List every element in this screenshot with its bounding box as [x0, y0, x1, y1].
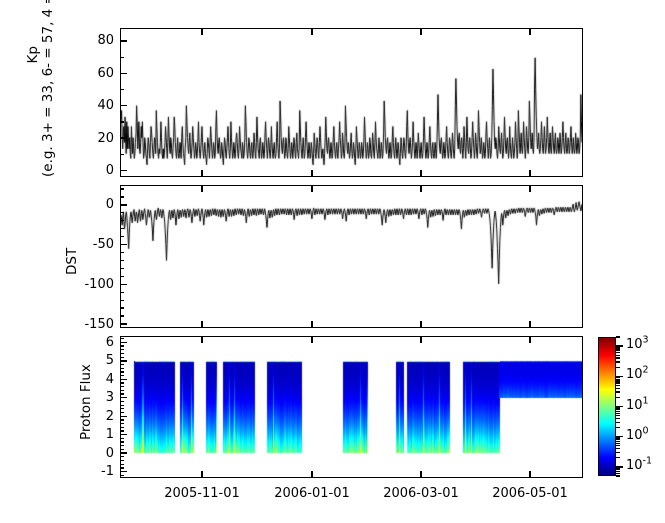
colorbar-tick-minor: [616, 427, 620, 428]
y-tick-major: [120, 137, 127, 138]
x-tick-major-top: [201, 28, 202, 35]
colorbar-tick-minor: [616, 468, 620, 469]
colorbar-tick-minor: [616, 355, 620, 356]
kp-line-canvas: [121, 29, 582, 176]
y-tick-minor-dense: [120, 371, 124, 372]
y-tick-label: 3: [0, 391, 114, 404]
y-tick-major: [120, 416, 127, 417]
x-tick-major-top: [420, 336, 421, 343]
y-tick-minor-dense: [120, 353, 124, 354]
y-tick-minor: [120, 236, 124, 237]
colorbar-tick-minor: [616, 445, 620, 446]
x-tick-major-top: [529, 336, 530, 343]
x-tick-major-upper: [201, 170, 202, 177]
x-tick-major-top: [201, 185, 202, 192]
y-tick-minor: [120, 315, 124, 316]
colorbar-tick-minor: [616, 382, 620, 383]
y-tick-label: 0: [0, 164, 114, 177]
y-tick-minor-dense: [120, 390, 124, 391]
colorbar-tick-minor: [616, 443, 620, 444]
y-tick-minor-dense: [120, 441, 124, 442]
y-tick-minor-dense: [120, 449, 124, 450]
y-tick-label: 0: [0, 447, 114, 460]
colorbar-tick-label: 100: [626, 429, 649, 442]
y-tick-major: [120, 452, 127, 453]
y-tick-minor-dense: [120, 475, 124, 476]
panel-dst-index: [120, 185, 583, 328]
y-tick-minor-dense: [120, 368, 124, 369]
colorbar-tick-minor: [616, 409, 620, 410]
figure-root: 020406080 Kp (e.g. 3+ = 33, 6- = 57, 4 =…: [0, 0, 665, 523]
colorbar-tick-minor: [616, 361, 620, 362]
y-tick-label: -100: [0, 278, 114, 291]
y-tick-major: [120, 397, 127, 398]
colorbar-tick-minor: [616, 457, 620, 458]
y-tick-minor-dense: [120, 423, 124, 424]
colorbar: [598, 337, 616, 476]
y-tick-minor: [120, 154, 124, 155]
colorbar-tick-minor: [616, 452, 620, 453]
y-tick-minor-dense: [120, 357, 124, 358]
colorbar-tick-minor: [616, 348, 620, 349]
y-tick-major: [120, 360, 127, 361]
y-tick-major: [120, 323, 127, 324]
y-tick-label: 6: [0, 336, 114, 349]
y-tick-minor-dense: [120, 375, 124, 376]
y-tick-minor: [120, 338, 124, 339]
x-tick-major-top: [311, 28, 312, 35]
colorbar-tick-minor: [616, 350, 620, 351]
y-tick-label: 0: [0, 198, 114, 211]
y-tick-minor: [120, 57, 124, 58]
y-tick-label: 20: [0, 132, 114, 145]
colorbar-tick-minor: [616, 357, 620, 358]
x-tick-major-upper: [311, 321, 312, 328]
x-tick-major-upper: [529, 170, 530, 177]
y-tick-label: 4: [0, 373, 114, 386]
colorbar-tick-minor: [616, 469, 620, 470]
y-tick-label: -50: [0, 238, 114, 251]
y-tick-label: 80: [0, 34, 114, 47]
colorbar-tick-minor: [616, 413, 620, 414]
colorbar-tick-minor: [616, 385, 620, 386]
colorbar-tick-minor: [616, 377, 620, 378]
y-tick-minor-dense: [120, 427, 124, 428]
x-tick-major-upper: [311, 170, 312, 177]
y-tick-minor: [120, 276, 124, 277]
colorbar-tick-minor: [616, 437, 620, 438]
x-tick-major: [311, 471, 312, 478]
x-tick-major-top: [529, 185, 530, 192]
colorbar-tick-minor: [616, 367, 620, 368]
y-tick-minor-dense: [120, 349, 124, 350]
y-tick-minor-dense: [120, 419, 124, 420]
colorbar-tick-minor: [616, 473, 620, 474]
y-tick-minor-dense: [120, 445, 124, 446]
colorbar-tick-minor: [616, 422, 620, 423]
y-tick-minor-dense: [120, 467, 124, 468]
colorbar-gradient-canvas: [599, 338, 615, 475]
y-tick-minor-dense: [120, 393, 124, 394]
colorbar-tick-label: 103: [626, 338, 649, 351]
y-tick-minor-dense: [120, 460, 124, 461]
y-tick-minor-dense: [120, 386, 124, 387]
y-tick-minor: [120, 220, 124, 221]
colorbar-tick-minor: [616, 407, 620, 408]
y-tick-minor: [120, 89, 124, 90]
proton-flux-axis-title: Proton Flux: [78, 364, 94, 440]
y-tick-minor-dense: [120, 345, 124, 346]
y-tick-label: 5: [0, 354, 114, 367]
y-tick-major: [120, 379, 127, 380]
y-tick-minor-dense: [120, 382, 124, 383]
colorbar-tick-minor: [616, 388, 620, 389]
y-tick-label: -150: [0, 318, 114, 331]
y-tick-minor: [120, 307, 124, 308]
y-tick-minor-dense: [120, 464, 124, 465]
y-tick-minor-dense: [120, 405, 124, 406]
y-tick-minor: [120, 196, 124, 197]
colorbar-tick-minor: [616, 379, 620, 380]
y-tick-major: [120, 204, 127, 205]
x-tick-major: [201, 471, 202, 478]
y-tick-major: [120, 434, 127, 435]
y-tick-minor: [120, 212, 124, 213]
colorbar-tick-minor: [616, 415, 620, 416]
y-tick-label: -1: [0, 465, 114, 478]
colorbar-tick-minor: [616, 391, 620, 392]
x-tick-major-top: [201, 336, 202, 343]
panel-kp-index: [120, 28, 583, 177]
x-tick-major-upper: [529, 321, 530, 328]
colorbar-tick-minor: [616, 347, 620, 348]
y-tick-minor: [120, 228, 124, 229]
x-tick-label: 2006-05-01: [460, 487, 600, 500]
y-tick-major: [120, 284, 127, 285]
dst-line-canvas: [121, 186, 582, 327]
x-tick-major-upper: [201, 321, 202, 328]
y-tick-minor-dense: [120, 430, 124, 431]
y-tick-minor: [120, 268, 124, 269]
proton-flux-heatmap-canvas: [121, 337, 582, 477]
colorbar-tick-label: 101: [626, 399, 649, 412]
y-tick-label: 60: [0, 67, 114, 80]
y-tick-major: [120, 471, 127, 472]
x-tick-major: [529, 471, 530, 478]
colorbar-tick-minor: [616, 471, 620, 472]
colorbar-tick-label: 102: [626, 368, 649, 381]
y-tick-minor: [120, 292, 124, 293]
y-tick-minor-dense: [120, 364, 124, 365]
x-tick-major-upper: [420, 321, 421, 328]
y-tick-major: [120, 105, 127, 106]
y-tick-minor: [120, 260, 124, 261]
colorbar-tick-minor: [616, 448, 620, 449]
y-tick-major: [120, 40, 127, 41]
kp-axis-title: Kp (e.g. 3+ = 33, 6- = 57, 4 = 40, etc.): [26, 0, 56, 177]
y-tick-minor: [120, 121, 124, 122]
colorbar-tick-minor: [616, 439, 620, 440]
x-tick-major-top: [311, 185, 312, 192]
colorbar-tick-minor: [616, 380, 620, 381]
y-tick-minor-dense: [120, 438, 124, 439]
colorbar-tick-minor: [616, 441, 620, 442]
y-tick-major: [120, 73, 127, 74]
y-tick-minor: [120, 188, 124, 189]
colorbar-tick-minor: [616, 475, 620, 476]
kp-axis-title-line1: Kp: [26, 0, 41, 177]
x-tick-major-top: [420, 28, 421, 35]
x-tick-major-top: [311, 336, 312, 343]
colorbar-tick-minor: [616, 411, 620, 412]
y-tick-label: 40: [0, 99, 114, 112]
colorbar-tick-minor: [616, 336, 620, 337]
x-tick-major-top: [529, 28, 530, 35]
y-tick-minor-dense: [120, 408, 124, 409]
y-tick-minor: [120, 300, 124, 301]
colorbar-tick-minor: [616, 397, 620, 398]
y-tick-minor-dense: [120, 456, 124, 457]
colorbar-tick-minor: [616, 352, 620, 353]
colorbar-tick-minor: [616, 418, 620, 419]
x-tick-major-upper: [420, 170, 421, 177]
y-tick-minor: [120, 252, 124, 253]
colorbar-tick-label: 10-1: [626, 459, 652, 472]
dst-axis-title: DST: [64, 248, 80, 275]
y-tick-label: 2: [0, 410, 114, 423]
y-tick-major: [120, 170, 127, 171]
x-tick-major: [420, 471, 421, 478]
x-tick-major-top: [420, 185, 421, 192]
y-tick-minor-dense: [120, 401, 124, 402]
kp-axis-title-line2: (e.g. 3+ = 33, 6- = 57, 4 = 40, etc.): [41, 0, 56, 177]
y-tick-minor-dense: [120, 412, 124, 413]
y-tick-major: [120, 342, 127, 343]
y-tick-major: [120, 244, 127, 245]
panel-proton-flux: [120, 336, 583, 478]
y-tick-label: 1: [0, 428, 114, 441]
